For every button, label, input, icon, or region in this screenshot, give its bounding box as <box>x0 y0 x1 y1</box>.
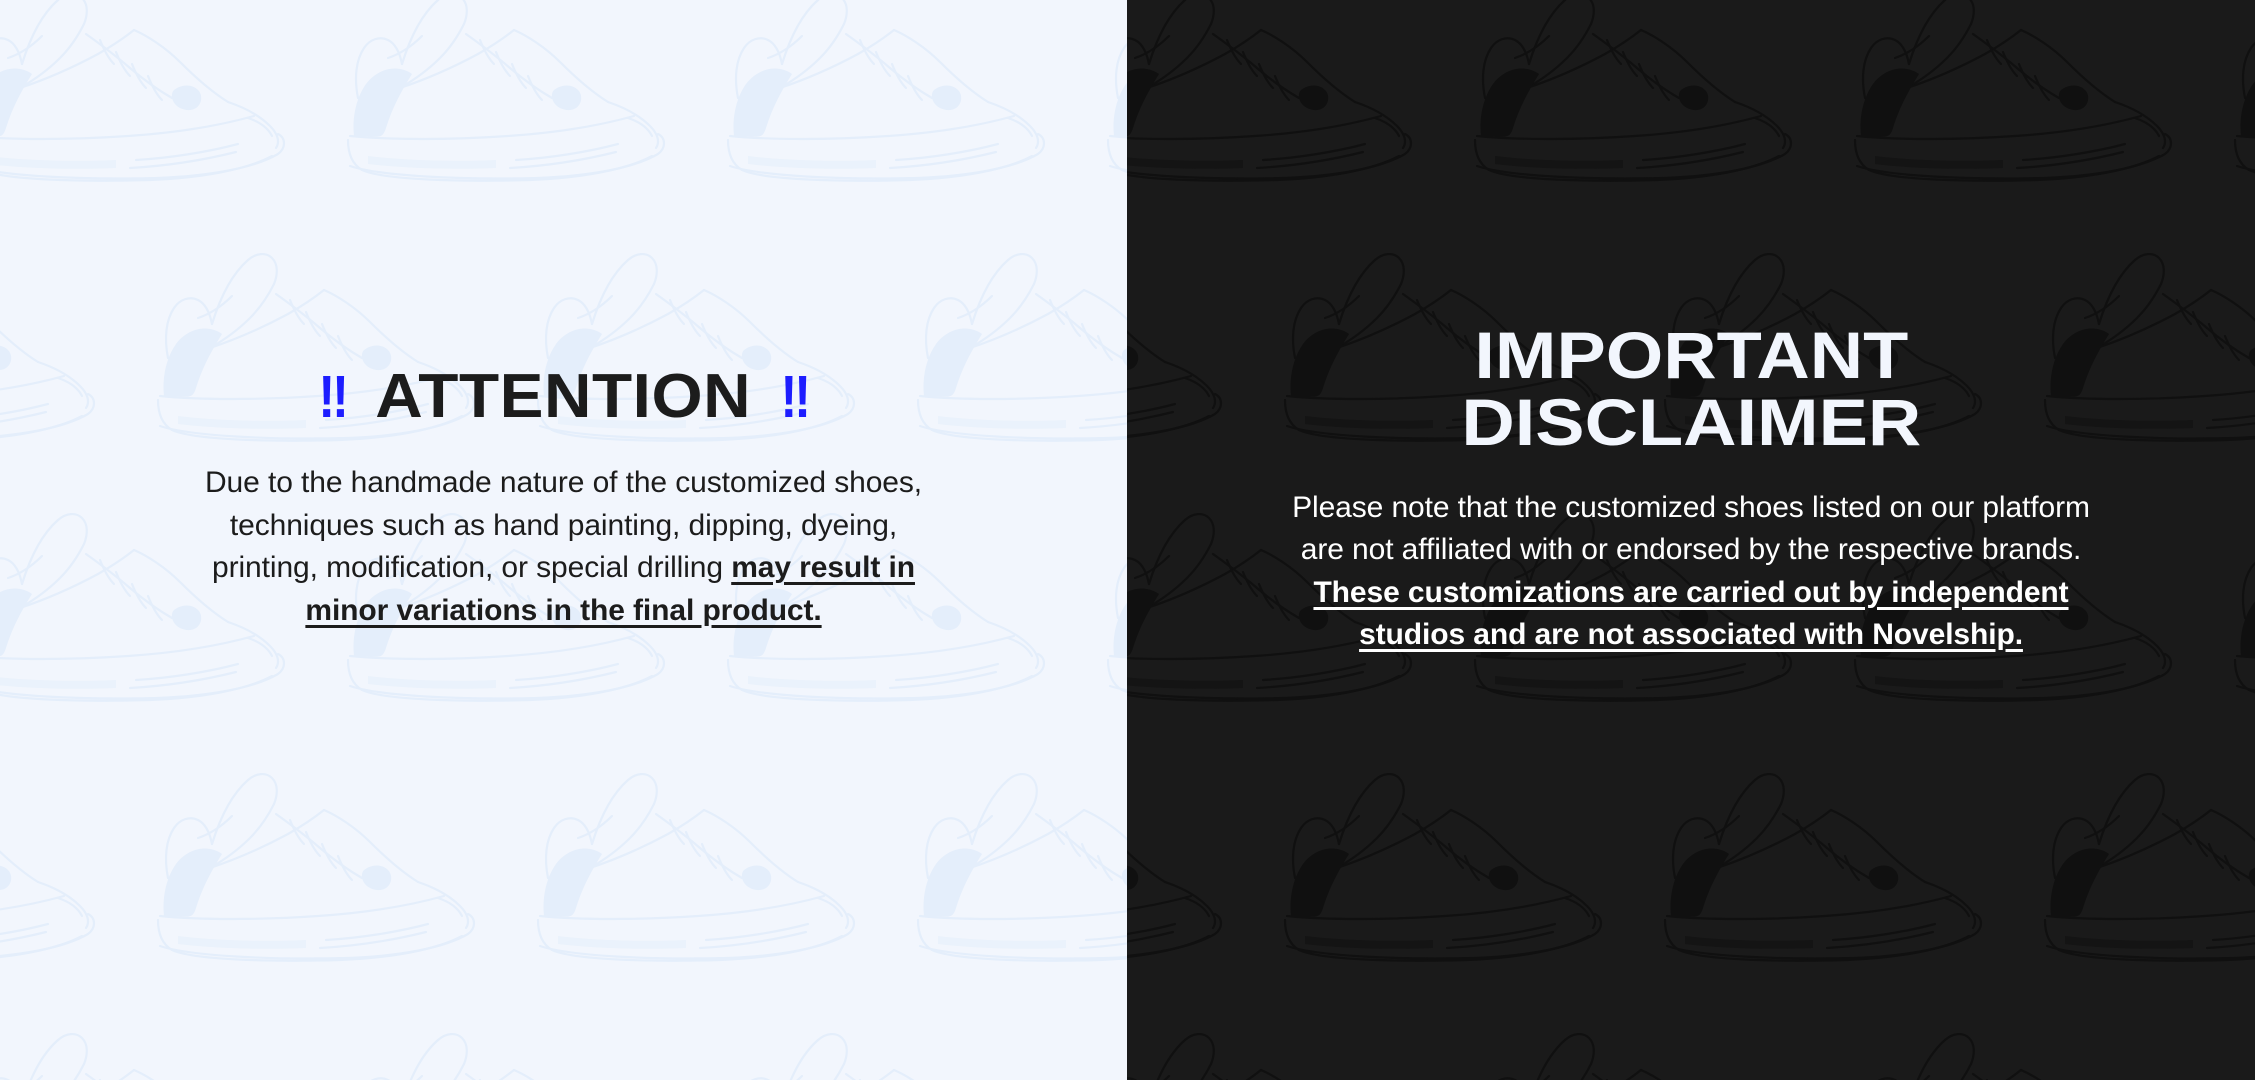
attention-disclaimer-banner: ‼ ATTENTION ‼ Due to the handmade nature… <box>0 0 2255 1080</box>
double-exclamation-icon-left: ‼ <box>319 367 346 426</box>
disclaimer-heading-line1: IMPORTANT <box>1461 322 1921 389</box>
disclaimer-body-normal: Please note that the customized shoes li… <box>1292 491 2090 567</box>
disclaimer-body: Please note that the customized shoes li… <box>1281 487 2101 657</box>
attention-panel: ‼ ATTENTION ‼ Due to the handmade nature… <box>0 0 1127 1080</box>
disclaimer-heading: IMPORTANT DISCLAIMER <box>1461 322 1921 457</box>
attention-content: ‼ ATTENTION ‼ Due to the handmade nature… <box>0 0 1127 1080</box>
disclaimer-content: IMPORTANT DISCLAIMER Please note that th… <box>1127 0 2255 1080</box>
attention-heading: ‼ ATTENTION ‼ <box>316 366 810 428</box>
double-exclamation-icon-right: ‼ <box>781 367 808 426</box>
attention-heading-text: ATTENTION <box>376 366 752 428</box>
disclaimer-body-emphasis: These customizations are carried out by … <box>1313 576 2068 652</box>
attention-body: Due to the handmade nature of the custom… <box>174 462 954 632</box>
disclaimer-panel: IMPORTANT DISCLAIMER Please note that th… <box>1127 0 2255 1080</box>
disclaimer-heading-line2: DISCLAIMER <box>1461 389 1921 456</box>
